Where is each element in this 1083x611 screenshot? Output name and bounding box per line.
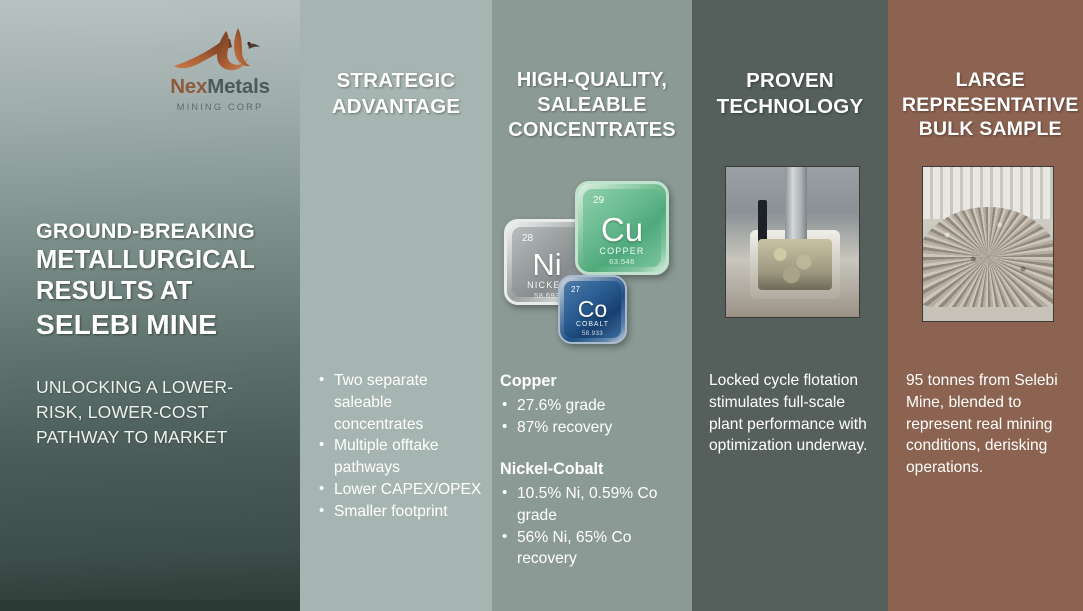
- ore-stockpile-mound: [923, 207, 1053, 307]
- infographic-poster: NexMetals MINING CORP GROUND-BREAKING ME…: [0, 0, 1083, 611]
- element-symbol-copper: Cu: [583, 213, 661, 246]
- bullet-list-copper: 27.6% grade 87% recovery: [500, 395, 682, 439]
- hero-panel: NexMetals MINING CORP GROUND-BREAKING ME…: [0, 0, 300, 611]
- footer-segment-bulk-sample: [888, 600, 1083, 611]
- logo-wordmark: NexMetals: [160, 77, 282, 98]
- element-tile-copper: 29 Cu COPPER 63.546: [575, 181, 669, 275]
- atomic-mass-copper: 63.546: [583, 257, 661, 267]
- logo-tagline: MINING CORP: [160, 101, 282, 112]
- photo-bulk-ore-stockpile-image: [923, 167, 1053, 321]
- element-symbol-cobalt: Co: [564, 298, 621, 321]
- column-high-quality-concentrates: HIGH-QUALITY, SALEABLE CONCENTRATES 28 N…: [492, 0, 692, 611]
- column-body-strategic-advantage: Two separate saleable concentrates Multi…: [317, 370, 482, 523]
- column-strategic-advantage: STRATEGIC ADVANTAGE Two separate saleabl…: [300, 0, 492, 611]
- photo-flotation-cell: [725, 166, 860, 318]
- hero-title-line-1: GROUND-BREAKING: [36, 218, 282, 245]
- list-item: Multiple offtake pathways: [317, 435, 482, 479]
- flotation-froth: [758, 239, 833, 290]
- element-tile-copper-inner: 29 Cu COPPER 63.546: [583, 189, 661, 267]
- paragraph-large-bulk-sample: 95 tonnes from Selebi Mine, blended to r…: [904, 370, 1083, 479]
- footer-segment-concentrates: [492, 600, 692, 611]
- logo-word-nex: Nex: [170, 75, 207, 98]
- column-heading-high-quality-concentrates: HIGH-QUALITY, SALEABLE CONCENTRATES: [506, 0, 678, 144]
- footer-segment-technology: [692, 600, 888, 611]
- list-item: 27.6% grade: [500, 395, 682, 417]
- list-item: Smaller footprint: [317, 501, 482, 523]
- atomic-number-nickel: 28: [522, 233, 533, 244]
- photo-flotation-cell-image: [726, 167, 859, 317]
- column-heading-strategic-advantage: STRATEGIC ADVANTAGE: [314, 0, 478, 120]
- column-body-large-bulk-sample: 95 tonnes from Selebi Mine, blended to r…: [904, 370, 1083, 479]
- photo-bulk-ore-stockpile: [922, 166, 1054, 322]
- list-item: 10.5% Ni, 0.59% Co grade: [500, 483, 682, 527]
- element-tile-cobalt: 27 Co COBALT 58.933: [558, 275, 627, 344]
- column-body-high-quality-concentrates: Copper 27.6% grade 87% recovery Nickel-C…: [500, 370, 682, 570]
- column-body-proven-technology: Locked cycle flotation stimulates full-s…: [707, 370, 878, 457]
- phoenix-bird-flame-logo-icon: [160, 26, 282, 78]
- atomic-number-copper: 29: [593, 195, 604, 206]
- hero-title-line-3: RESULTS AT: [36, 277, 282, 307]
- hero-title-line-4: SELEBI MINE: [36, 309, 282, 341]
- element-name-copper: COPPER: [583, 246, 661, 257]
- column-large-bulk-sample: LARGE REPRESENTATIVE BULK SAMPLE 95 tonn…: [888, 0, 1083, 611]
- bullet-list-strategic-advantage: Two separate saleable concentrates Multi…: [317, 370, 482, 523]
- list-item: Two separate saleable concentrates: [317, 370, 482, 435]
- periodic-element-tiles: 28 Ni NICKEL 58.693 29 Cu COPPER 63.546 …: [500, 175, 686, 340]
- group-title-copper: Copper: [500, 370, 682, 393]
- group-spacer: [500, 438, 682, 458]
- company-logo: NexMetals MINING CORP: [160, 26, 282, 110]
- element-name-cobalt: COBALT: [564, 321, 621, 330]
- group-title-nickel-cobalt: Nickel-Cobalt: [500, 458, 682, 481]
- list-item: Lower CAPEX/OPEX: [317, 479, 482, 501]
- atomic-mass-cobalt: 58.933: [564, 330, 621, 338]
- column-proven-technology: PROVEN TECHNOLOGY Locked cycle flotation…: [692, 0, 888, 611]
- footer-segment-strategic: [300, 600, 492, 611]
- element-tile-cobalt-inner: 27 Co COBALT 58.933: [564, 281, 621, 338]
- hero-subtitle: UNLOCKING A LOWER-RISK, LOWER-COST PATHW…: [36, 375, 276, 450]
- footer-segment-hero: [0, 600, 300, 611]
- column-heading-proven-technology: PROVEN TECHNOLOGY: [706, 0, 874, 120]
- atomic-number-cobalt: 27: [571, 285, 580, 294]
- paragraph-proven-technology: Locked cycle flotation stimulates full-s…: [707, 370, 878, 457]
- list-item: 56% Ni, 65% Co recovery: [500, 527, 682, 571]
- list-item: 87% recovery: [500, 417, 682, 439]
- hero-title: GROUND-BREAKING METALLURGICAL RESULTS AT…: [36, 218, 282, 341]
- logo-word-metals: Metals: [207, 75, 270, 98]
- column-heading-large-bulk-sample: LARGE REPRESENTATIVE BULK SAMPLE: [902, 0, 1079, 142]
- hero-title-line-2: METALLURGICAL: [36, 246, 282, 276]
- footer-strip: [0, 600, 1083, 611]
- bullet-list-nickel-cobalt: 10.5% Ni, 0.59% Co grade 56% Ni, 65% Co …: [500, 483, 682, 570]
